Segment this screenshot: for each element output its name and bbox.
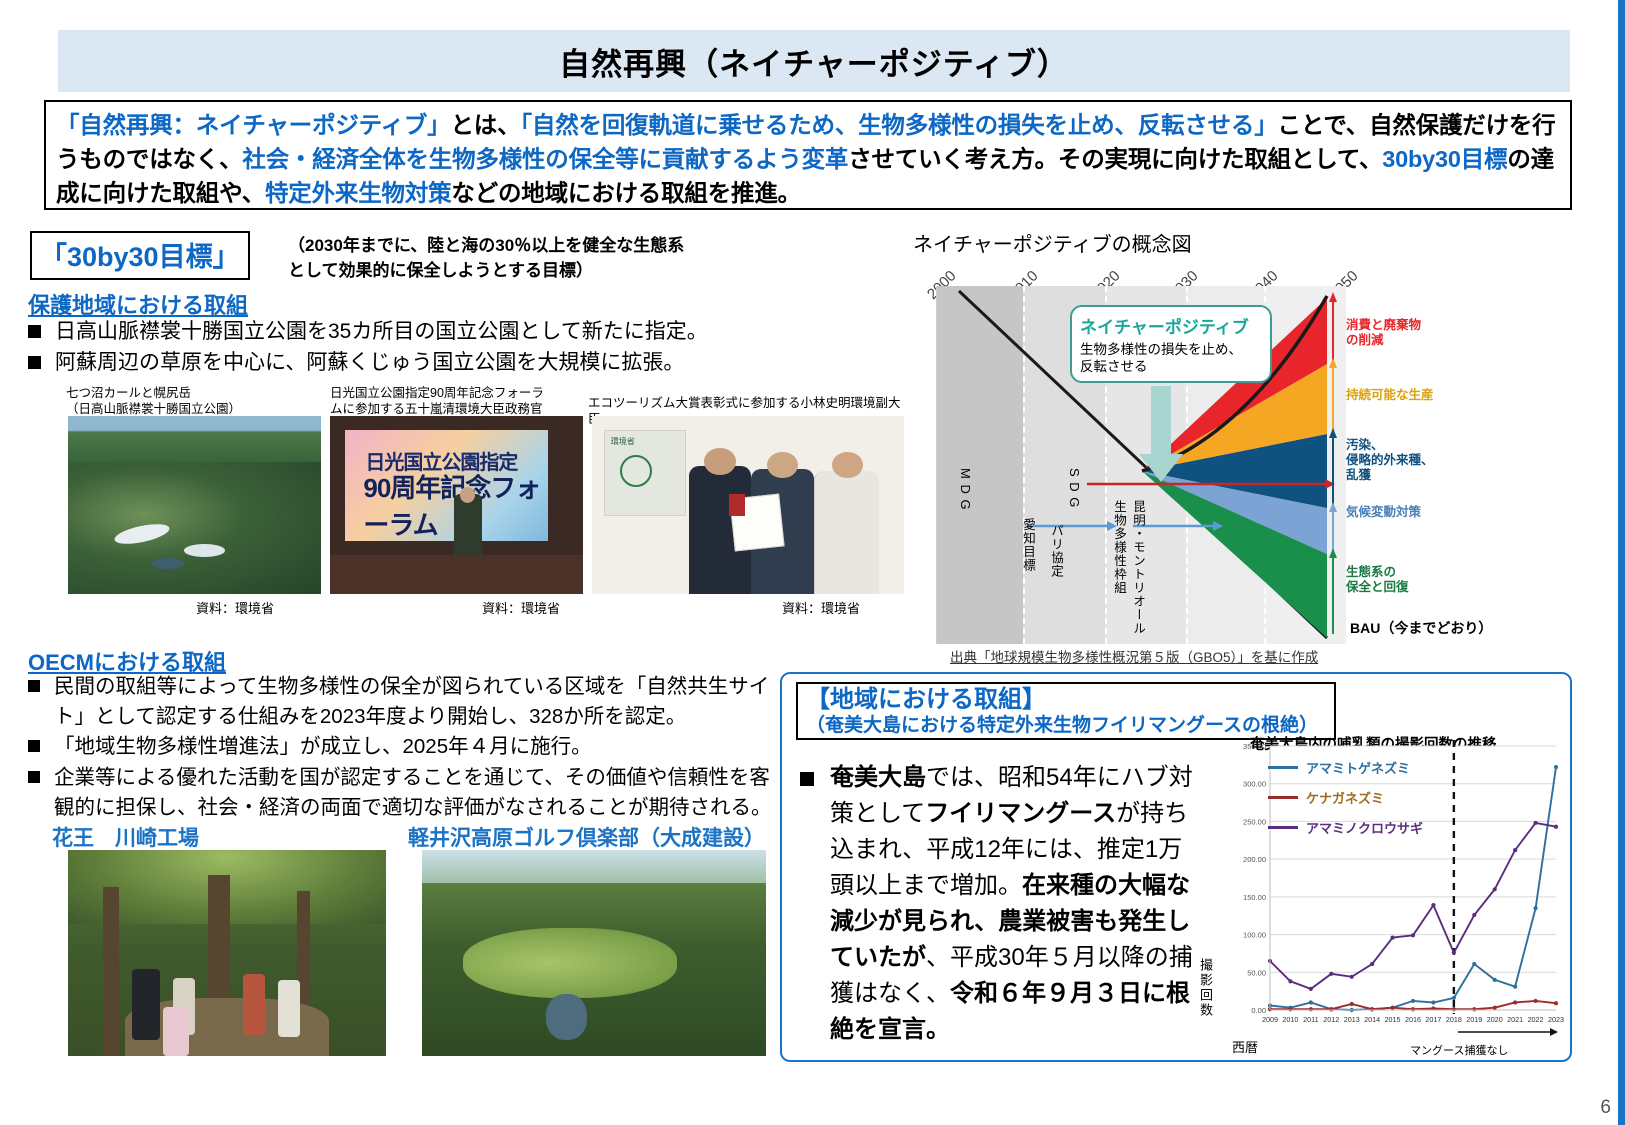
lead-seg-5: 社会・経済全体を生物多様性の保全等に貢献するよう変革 [242, 146, 848, 172]
chart-x-tick: 2017 [1425, 1015, 1441, 1024]
slide-root: 自然再興（ネイチャーポジティブ） 「自然再興：ネイチャーポジティブ」とは、「自然… [0, 0, 1625, 1125]
chart-data-point [1350, 975, 1354, 979]
region-text-s1: 奄美大島 [830, 764, 926, 791]
photo-forum-screen: 日光国立公園指定 90周年記念フォーラム [345, 430, 547, 540]
chart-y-tick: 250.00 [1243, 817, 1266, 826]
callout-heading: ネイチャーポジティブ [1080, 313, 1262, 338]
chart-data-point [1370, 962, 1374, 966]
chart-x-tick: 2011 [1303, 1015, 1318, 1024]
chart-data-point [1390, 935, 1394, 939]
photo-fairway [463, 928, 676, 998]
chart-x-tick: 2010 [1282, 1015, 1298, 1024]
chart-data-point [1513, 1000, 1517, 1004]
region-bullet: 奄美大島では、昭和54年にハブ対策としてフイリマングースが持ち込まれ、平成12年… [800, 760, 1200, 1048]
oecm-bullet-3: 企業等による優れた活動を国が認定することを通じて、その価値や信頼性を客観的に担保… [28, 763, 780, 823]
chart-data-point [1554, 1001, 1558, 1005]
oecm-bullet-1: 民間の取組等によって生物多様性の保全が図られている区域を「自然共生サイト」として… [28, 672, 780, 732]
chart-data-point [1554, 825, 1558, 829]
chart-data-point [1431, 1000, 1435, 1004]
callout-body: 生物多様性の損失を止め、 反転させる [1080, 341, 1262, 375]
chart-y-tick: 300.00 [1243, 780, 1266, 789]
chart-x-tick: 2018 [1446, 1015, 1462, 1024]
lead-seg-9: 特定外来生物対策 [265, 180, 451, 206]
chart-y-tick: 0.00 [1251, 1006, 1266, 1015]
chart-data-point [1513, 985, 1517, 989]
chart-data-point [1329, 1007, 1333, 1011]
chart-y-axis-label: 撮影回数 [1196, 958, 1215, 1018]
chart-x-tick: 2013 [1344, 1015, 1360, 1024]
lead-seg-6: させていく考え方。その実現に向けた取組として、 [848, 146, 1382, 172]
legend-item-ryukyu-long-furred-rat: ケナガネズミ [1268, 788, 1384, 807]
chart-x-tick: 2012 [1323, 1015, 1339, 1024]
photo-pond [546, 994, 587, 1039]
badge-30by30-note: （2030年までに、陸と海の30％以上を健全な生態系 として効果的に保全しようと… [288, 233, 888, 283]
chart-data-point [1472, 962, 1476, 966]
chart-x-tick: 2015 [1385, 1015, 1401, 1024]
bullet-square-icon [800, 772, 814, 786]
diagram-arrow-label-aichi: 愛知目標 [1019, 518, 1038, 572]
chart-x-tick: 2019 [1466, 1015, 1482, 1024]
photo-visitor [243, 974, 265, 1036]
chart-data-point [1411, 999, 1415, 1003]
photo-source-1: 資料：環境省 [196, 598, 274, 617]
region-text-s3: フイリマングース [925, 800, 1116, 827]
chart-data-point [1493, 887, 1497, 891]
diagram-arrow-label-kunming: 昆明・モントリオール 生物多様性枠組 [1110, 500, 1148, 635]
bullet-square-icon [28, 771, 40, 783]
photo-source-3: 資料：環境省 [782, 598, 860, 617]
photo-ribbon [729, 494, 745, 515]
chart-x-tick: 2016 [1405, 1015, 1421, 1024]
photo-nikko-forum: 日光国立公園指定 90周年記念フォーラム [330, 416, 583, 594]
wedge-label-climate: 気候変動対策 [1346, 505, 1421, 520]
photo-label-kao-kawasaki: 花王 川崎工場 [52, 822, 199, 852]
lead-seg-1: 「自然再興：ネイチャーポジティブ」 [56, 112, 450, 138]
section-protected-areas-heading: 保護地域における取組 [28, 288, 248, 320]
chart-data-point [1472, 913, 1476, 917]
photo-person-1-head [704, 448, 735, 475]
legend-item-amami-spiny-rat: アマミトゲネズミ [1268, 758, 1410, 777]
legend-line-icon [1268, 796, 1298, 799]
photo-source-2: 資料：環境省 [482, 598, 560, 617]
chart-data-point [1411, 933, 1415, 937]
legend-label: アマミノクロウサギ [1306, 818, 1423, 837]
protected-bullet-2-text: 阿蘇周辺の草原を中心に、阿蘇くじゅう国立公園を大規模に拡張。 [55, 348, 684, 378]
diagram-bau-label: BAU（今までどおり） [1350, 618, 1492, 638]
chart-data-point [1370, 1007, 1374, 1011]
photo-visitor-child [163, 1007, 188, 1056]
diagram-title: ネイチャーポジティブの概念図 [913, 228, 1192, 257]
chart-data-point [1288, 1007, 1292, 1011]
chart-data-point [1288, 979, 1292, 983]
badge-30by30: 「30by30目標」 [30, 231, 250, 280]
photo-ministry-logo [620, 455, 652, 487]
chart-data-point [1309, 987, 1313, 991]
photo-ecotourism-award: 環境省 [592, 416, 904, 594]
legend-label: アマミトゲネズミ [1306, 758, 1410, 777]
slide-right-edge-accent [1618, 0, 1625, 1125]
photo-stage-floor [330, 555, 583, 594]
chart-data-point [1452, 951, 1456, 955]
wedge-label-ecosystem: 生態系の 保全と回復 [1346, 565, 1409, 595]
photo-kao-kawasaki-forest [68, 850, 386, 1056]
photo-sky [422, 850, 766, 883]
oecm-bullet-2-text: 「地域生物多様性増進法」が成立し、2025年４月に施行。 [54, 732, 592, 762]
mammal-photo-count-chart: 0.0050.00100.00150.00200.00250.00300.003… [1218, 732, 1564, 1050]
chart-data-point [1513, 848, 1517, 852]
bullet-square-icon [28, 325, 41, 338]
region-bullet-text: 奄美大島では、昭和54年にハブ対策としてフイリマングースが持ち込まれ、平成12年… [830, 760, 1200, 1048]
chart-data-point [1309, 1007, 1313, 1011]
oecm-bullet-3-text: 企業等による優れた活動を国が認定することを通じて、その価値や信頼性を客観的に担保… [54, 763, 780, 823]
bullet-square-icon [28, 356, 41, 369]
oecm-bullet-1-text: 民間の取組等によって生物多様性の保全が図られている区域を「自然共生サイト」として… [54, 672, 780, 732]
chart-y-tick: 150.00 [1243, 893, 1266, 902]
chart-y-tick: 100.00 [1243, 931, 1266, 940]
region-header-line-1: 【地域における取組】 [806, 686, 1326, 714]
legend-item-amami-rabbit: アマミノクロウサギ [1268, 818, 1423, 837]
lead-paragraph-box: 「自然再興：ネイチャーポジティブ」とは、「自然を回復軌道に乗せるため、生物多様性… [44, 100, 1572, 210]
chart-data-point [1309, 1000, 1313, 1004]
photo-visitor [278, 980, 300, 1038]
photo-mountain-ridge [68, 462, 321, 594]
lead-seg-7: 30by30目標 [1382, 146, 1507, 172]
photo-snow-patch [184, 544, 224, 556]
chart-data-point [1329, 972, 1333, 976]
chart-data-point [1390, 1006, 1394, 1010]
nature-positive-callout: ネイチャーポジティブ 生物多様性の損失を止め、 反転させる [1070, 305, 1272, 383]
bullet-square-icon [28, 680, 40, 692]
bullet-square-icon [28, 740, 40, 752]
photo-karuizawa-golf-course [422, 850, 766, 1056]
legend-label: ケナガネズミ [1306, 788, 1384, 807]
chart-y-tick: 350.00 [1243, 742, 1266, 751]
chart-data-point [1452, 996, 1456, 1000]
protected-bullet-2: 阿蘇周辺の草原を中心に、阿蘇くじゅう国立公園を大規模に拡張。 [28, 348, 908, 378]
chart-data-point [1472, 1007, 1476, 1011]
diagram-marker-mdg: M D G [958, 468, 973, 511]
protected-bullet-1-text: 日高山脈襟裳十勝国立公園を35カ所目の国立公園として新たに指定。 [55, 317, 708, 347]
protected-bullet-1: 日高山脈襟裳十勝国立公園を35カ所目の国立公園として新たに指定。 [28, 317, 908, 347]
chart-x-tick: 2020 [1487, 1015, 1503, 1024]
chart-svg: 0.0050.00100.00150.00200.00250.00300.003… [1218, 732, 1564, 1050]
wedge-label-consumption: 消費と廃棄物 の削減 [1346, 318, 1421, 348]
chart-data-point [1431, 903, 1435, 907]
page-title: 自然再興（ネイチャーポジティブ） [559, 39, 1069, 84]
lead-paragraph: 「自然再興：ネイチャーポジティブ」とは、「自然を回復軌道に乗せるため、生物多様性… [56, 108, 1560, 210]
legend-line-icon [1268, 766, 1298, 769]
chart-data-point [1554, 765, 1558, 769]
chart-x-tick: 2022 [1528, 1015, 1544, 1024]
lead-seg-2: とは、 [450, 112, 520, 138]
photo-caption-1: 七つ沼カールと幌尻岳 （日高山脈襟裳十勝国立公園） [66, 385, 316, 417]
chart-data-point [1493, 1006, 1497, 1010]
chart-data-point [1452, 1007, 1456, 1011]
chart-x-tick: 2021 [1507, 1015, 1523, 1024]
legend-line-icon [1268, 826, 1298, 829]
slide-title-bar: 自然再興（ネイチャーポジティブ） [58, 30, 1570, 92]
photo-nanatsunuma-car [68, 416, 321, 594]
chart-y-tick: 200.00 [1243, 855, 1266, 864]
diagram-arrow-label-paris: パリ協定 [1047, 524, 1066, 578]
chart-data-point [1533, 906, 1537, 910]
photo-tree-trunk [103, 887, 119, 1056]
chart-data-point [1533, 999, 1537, 1003]
oecm-bullet-2: 「地域生物多様性増進法」が成立し、2025年４月に施行。 [28, 732, 780, 762]
chart-data-point [1493, 978, 1497, 982]
diagram-source-note: 出典「地球規模生物多様性概況第５版（GBO5）」を基に作成 [950, 646, 1318, 666]
lead-seg-10: などの地域における取組を推進。 [451, 180, 801, 206]
wedge-label-pollution: 汚染、 侵略的外来種、 乱獲 [1346, 438, 1434, 483]
chart-x-tick: 2023 [1548, 1015, 1564, 1024]
chart-data-point [1533, 821, 1537, 825]
chart-data-point [1411, 1007, 1415, 1011]
diagram-marker-sdg: S D G [1067, 468, 1082, 508]
photo-backdrop-text: 環境省 [611, 436, 635, 447]
chart-x-tick: 2014 [1364, 1015, 1380, 1024]
photo-label-karuizawa-golf: 軽井沢高原ゴルフ倶楽部（大成建設） [408, 822, 765, 852]
chart-y-tick: 50.00 [1247, 968, 1266, 977]
photo-person-3 [814, 471, 880, 594]
photo-visitor [132, 969, 161, 1039]
photo-caption-2: 日光国立公園指定90周年記念フォーラ ムに参加する五十嵐清環境大臣政務官 [330, 385, 570, 417]
chart-x-tick: 2009 [1262, 1015, 1278, 1024]
photo-person-2-head [767, 452, 798, 479]
chart-data-point [1350, 1002, 1354, 1006]
wedge-label-production: 持続可能な生産 [1346, 388, 1434, 403]
page-number: 6 [1600, 1097, 1611, 1119]
lead-seg-3: 「自然を回復軌道に乗せるため、生物多様性の損失を止め、反転させる」 [520, 112, 1277, 138]
